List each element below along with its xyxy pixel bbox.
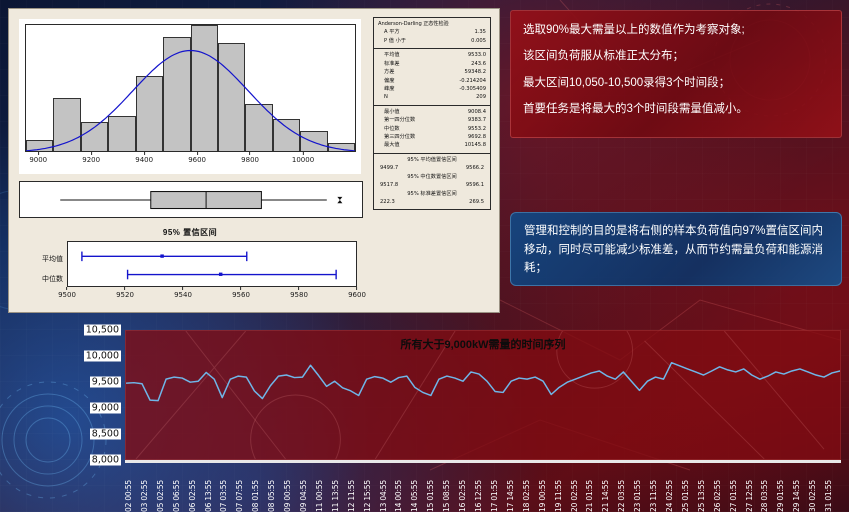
timeseries-y-tick: 8,500 [90, 429, 121, 440]
timeseries-x-tick: 19 11:55 [554, 480, 563, 512]
timeseries-title: 所有大于9,000kW需量的时间序列 [125, 336, 841, 352]
timeseries-x-tick: 29 14:55 [792, 480, 801, 512]
timeseries-x-tick: 12 15:55 [363, 480, 372, 512]
stat-key: 中位数 [378, 125, 400, 133]
quantile-row: 最大值10145.8 [378, 141, 486, 149]
blue-note-text: 管理和控制的目的是将右侧的样本负荷值向97%置信区间内移动，同时尽可能减少标准差… [524, 222, 828, 278]
interval-lower: 9517.8 [380, 181, 398, 189]
red-note-line-3: 最大区间10,050-10,500录得3个时间段； [523, 72, 829, 94]
timeseries-x-tick: 21 01:55 [585, 480, 594, 512]
timeseries-x-tick: 25 01:55 [681, 480, 690, 512]
timeseries-y-tick: 10,000 [84, 351, 121, 362]
timeseries-x-tick: 18 02:55 [522, 480, 531, 512]
timeseries-x-tick: 26 02:55 [713, 480, 722, 512]
stat-key: 方差 [378, 68, 394, 76]
timeseries-x-tick: 08 01:55 [251, 480, 260, 512]
quantile-stats-group: 最小值9008.4第一四分位数9383.7中位数9553.2第三四分位数9692… [374, 106, 490, 154]
interval-title: 95% 中位数置信区间 [378, 173, 486, 181]
stat-key: P 值 小于 [378, 37, 406, 45]
histogram-x-tick: 9000 [29, 152, 47, 164]
interval-bounds: 9517.89596.1 [378, 181, 486, 189]
timeseries-x-tick: 14 00:55 [394, 480, 403, 512]
histogram-x-tick-labels: 9000920094009600980010000 [25, 152, 356, 168]
ci-label-median: 中位数 [21, 274, 63, 284]
interval-lower: 9499.7 [380, 164, 398, 172]
stat-key: 峰度 [378, 85, 394, 93]
anderson-darling-row: A 平方1.35 [378, 28, 486, 36]
red-note-line-4: 首要任务是将最大的3个时间段需量值减小。 [523, 98, 829, 120]
report-statistics-column: Anderson-Darling 正态性检验 A 平方1.35P 值 小于0.0… [371, 9, 499, 312]
timeseries-x-tick: 27 01:55 [729, 480, 738, 512]
ci-x-tick: 9580 [290, 287, 308, 299]
boxplot-panel [19, 181, 363, 218]
timeseries-x-tick: 13 04:55 [379, 480, 388, 512]
stat-value: 10145.8 [465, 141, 486, 149]
timeseries-x-tick: 16 12:55 [474, 480, 483, 512]
timeseries-x-tick: 31 01:55 [824, 480, 833, 512]
stat-value: 209 [476, 93, 486, 101]
stat-value: 0.005 [471, 37, 486, 45]
histogram-panel: 9000920094009600980010000 [19, 19, 361, 174]
interval-title: 95% 标准差置信区间 [378, 190, 486, 198]
timeseries-y-tick: 10,500 [84, 325, 121, 336]
ci-x-tick: 9520 [116, 287, 134, 299]
stat-value: 9383.7 [468, 116, 486, 124]
timeseries-x-tick: 11 13:55 [331, 480, 340, 512]
quantile-row: 中位数9553.2 [378, 125, 486, 133]
timeseries-x-tick: 15 08:55 [442, 480, 451, 512]
timeseries-x-axis-labels: 02 00:5503 02:5505 02:5505 06:5506 02:55… [125, 462, 841, 512]
anderson-darling-row: P 值 小于0.005 [378, 37, 486, 45]
histogram-x-tick: 9200 [82, 152, 100, 164]
histogram-x-tick: 9400 [135, 152, 153, 164]
ci-chart-title: 95% 置信区间 [19, 227, 361, 238]
stat-value: 9692.8 [468, 133, 486, 141]
timeseries-y-tick: 9,000 [90, 403, 121, 414]
interval-stats-group: 95% 平均值置信区间9499.79566.295% 中位数置信区间9517.8… [374, 154, 490, 210]
timeseries-x-tick: 30 02:55 [808, 480, 817, 512]
timeseries-x-tick: 06 13:55 [204, 480, 213, 512]
timeseries-x-tick: 27 12:55 [745, 480, 754, 512]
stat-value: 59348.2 [465, 68, 486, 76]
timeseries-x-tick: 09 04:55 [299, 480, 308, 512]
ci-x-tick: 9500 [58, 287, 76, 299]
quantile-row: 第一四分位数9383.7 [378, 116, 486, 124]
quantile-row: 第三四分位数9692.8 [378, 133, 486, 141]
timeseries-x-tick: 07 07:55 [235, 480, 244, 512]
timeseries-x-tick: 22 03:55 [617, 480, 626, 512]
ci-x-tick: 9540 [174, 287, 192, 299]
confidence-interval-chart: 95% 置信区间 平均值 中位数 95009520954 [19, 241, 361, 303]
histogram-x-tick: 10000 [292, 152, 314, 164]
timeseries-x-tick: 06 02:55 [188, 480, 197, 512]
timeseries-x-tick: 24 02:55 [665, 480, 674, 512]
timeseries-y-tick: 8,000 [90, 455, 121, 466]
stat-key: A 平方 [378, 28, 400, 36]
timeseries-x-tick: 03 02:55 [140, 480, 149, 512]
timeseries-x-tick: 07 03:55 [219, 480, 228, 512]
timeseries-x-tick: 15 01:55 [426, 480, 435, 512]
interval-title: 95% 平均值置信区间 [378, 156, 486, 164]
timeseries-x-tick: 17 01:55 [490, 480, 499, 512]
stat-value: 9008.4 [468, 108, 486, 116]
timeseries-x-tick: 11 00:55 [315, 480, 324, 512]
stat-key: 最小值 [378, 108, 400, 116]
timeseries-y-tick: 9,500 [90, 377, 121, 388]
descriptive-row: 平均值9533.0 [378, 51, 486, 59]
timeseries-x-tick: 28 03:55 [760, 480, 769, 512]
descriptive-row: 标准差243.6 [378, 60, 486, 68]
ci-label-mean: 平均值 [21, 254, 63, 264]
red-note-line-1: 选取90%最大需量以上的数值作为考察对象; [523, 19, 829, 41]
timeseries-x-tick: 09 00:55 [283, 480, 292, 512]
histogram-x-tick: 9800 [241, 152, 259, 164]
red-note-line-2: 该区间负荷服从标准正太分布； [523, 45, 829, 67]
descriptive-row: 方差59348.2 [378, 68, 486, 76]
timeseries-x-tick: 14 05:55 [410, 480, 419, 512]
timeseries-x-tick: 19 00:55 [538, 480, 547, 512]
ci-x-tick: 9600 [348, 287, 366, 299]
timeseries-x-tick: 16 02:55 [458, 480, 467, 512]
timeseries-x-tick: 05 06:55 [172, 480, 181, 512]
stat-value: 9553.2 [468, 125, 486, 133]
interval-bounds: 222.3269.5 [378, 198, 486, 206]
stat-value: -0.214204 [459, 77, 486, 85]
timeseries-x-tick: 05 02:55 [156, 480, 165, 512]
quantile-row: 最小值9008.4 [378, 108, 486, 116]
timeseries-x-tick: 20 02:55 [570, 480, 579, 512]
timeseries-x-tick: 08 05:55 [267, 480, 276, 512]
histogram-x-tick: 9600 [188, 152, 206, 164]
timeseries-x-tick: 25 13:55 [697, 480, 706, 512]
stat-value: 243.6 [471, 60, 486, 68]
graphical-summary-report: 9000920094009600980010000 95% 置信区间 平均值 中… [8, 8, 500, 313]
stat-key: 标准差 [378, 60, 400, 68]
descriptive-row: N209 [378, 93, 486, 101]
timeseries-x-tick: 23 01:55 [633, 480, 642, 512]
interval-bounds: 9499.79566.2 [378, 164, 486, 172]
stat-key: 第一四分位数 [378, 116, 415, 124]
normal-curve-overlay [26, 25, 355, 153]
ci-x-tick: 9560 [232, 287, 250, 299]
stat-value: 9533.0 [468, 51, 486, 59]
ci-plot-area [67, 241, 357, 287]
descriptive-row: 峰度-0.305409 [378, 85, 486, 93]
interval-lower: 222.3 [380, 198, 395, 206]
report-charts-column: 9000920094009600980010000 95% 置信区间 平均值 中… [9, 9, 371, 312]
interval-upper: 269.5 [469, 198, 484, 206]
stat-key: N [378, 93, 388, 101]
anderson-darling-title: Anderson-Darling 正态性检验 [378, 20, 486, 28]
red-annotation-box: 选取90%最大需量以上的数值作为考察对象; 该区间负荷服从标准正太分布； 最大区… [510, 10, 842, 138]
stat-value: -0.305409 [459, 85, 486, 93]
stat-value: 1.35 [474, 28, 486, 36]
interval-upper: 9596.1 [466, 181, 484, 189]
descriptive-row: 偏度-0.214204 [378, 77, 486, 85]
timeseries-x-tick: 29 01:55 [776, 480, 785, 512]
ci-x-tick-labels: 950095209540956095809600 [67, 287, 357, 301]
stat-key: 最大值 [378, 141, 400, 149]
timeseries-chart: 所有大于9,000kW需量的时间序列 [125, 330, 841, 460]
stat-key: 第三四分位数 [378, 133, 415, 141]
interval-upper: 9566.2 [466, 164, 484, 172]
histogram-plot-area [25, 24, 356, 152]
timeseries-x-tick: 17 14:55 [506, 480, 515, 512]
timeseries-x-tick: 02 00:55 [125, 480, 133, 512]
timeseries-x-tick: 21 14:55 [601, 480, 610, 512]
stat-key: 偏度 [378, 77, 394, 85]
timeseries-x-tick: 12 11:55 [347, 480, 356, 512]
timeseries-x-tick: 23 11:55 [649, 480, 658, 512]
stat-key: 平均值 [378, 51, 400, 59]
blue-annotation-box: 管理和控制的目的是将右侧的样本负荷值向97%置信区间内移动，同时尽可能减少标准差… [510, 212, 842, 286]
timeseries-y-axis: 10,50010,0009,5009,0008,5008,000 [63, 330, 121, 460]
statistics-table: Anderson-Darling 正态性检验 A 平方1.35P 值 小于0.0… [373, 17, 491, 210]
descriptive-stats-group: 平均值9533.0标准差243.6方差59348.2偏度-0.214204峰度-… [374, 49, 490, 106]
anderson-darling-group: Anderson-Darling 正态性检验 A 平方1.35P 值 小于0.0… [374, 18, 490, 49]
